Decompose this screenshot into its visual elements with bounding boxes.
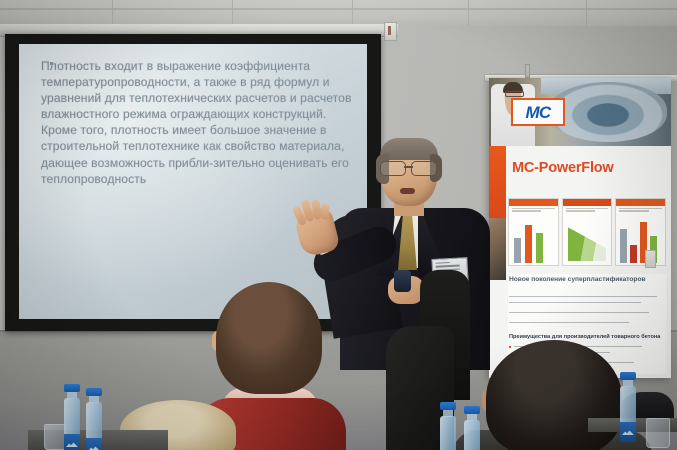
bottle-cap: [464, 406, 480, 414]
banner-hook: [525, 64, 530, 78]
banner-headline: Новое поколение суперпластификаторов: [509, 276, 659, 284]
wall-light-switch[interactable]: [645, 250, 656, 268]
bottle-label: [620, 422, 636, 442]
slide-content: Плотность входит в выражение коэффициент…: [41, 58, 355, 187]
bottle-label: [64, 434, 80, 450]
ceiling: [0, 0, 677, 26]
bottle-cap: [86, 388, 102, 396]
bottle-body: [440, 416, 456, 450]
bottle-cap: [64, 384, 80, 392]
projection-screen-surface: Плотность входит в выражение коэффициент…: [19, 44, 367, 319]
bottle-cap: [620, 372, 636, 380]
presenter-mouth: [400, 188, 415, 194]
slide-bullet-icon: [50, 62, 53, 65]
ceiling-tile-grid: [0, 0, 677, 26]
banner-subheadline: Преимущества для производителей товарног…: [509, 334, 660, 340]
bottle-body: [64, 398, 80, 446]
banner-bar-chart: [512, 215, 555, 263]
conference-photo-scene: Плотность входит в выражение коэффициент…: [0, 0, 677, 450]
bottle-body: [86, 402, 102, 450]
stadium-photo: [549, 82, 667, 142]
bottle-cap: [440, 402, 456, 410]
audience-dark-haired-man: [486, 340, 622, 450]
bottle-body: [464, 420, 480, 450]
lab-technician-glasses-icon: [505, 91, 524, 97]
mc-logo-text: MC: [525, 104, 550, 121]
banner-card-header: [563, 199, 612, 206]
mc-logo: MC: [511, 98, 565, 126]
drinking-glass: [646, 418, 670, 448]
banner-chart-card: [562, 198, 613, 266]
bottle-label: [86, 438, 102, 450]
banner-chart-panels: [508, 198, 666, 266]
banner-line-chart: [566, 215, 609, 263]
drinking-glass: [44, 424, 66, 450]
glasses-icon: [378, 161, 440, 174]
presentation-clicker[interactable]: [394, 270, 411, 292]
screen-roller-end-cap: [384, 22, 397, 41]
banner-card-header: [616, 199, 665, 206]
banner-chart-card: [615, 198, 666, 266]
slide-paragraph: Плотность входит в выражение коэффициент…: [41, 58, 355, 187]
audience-woman-hair: [216, 282, 322, 394]
bottle-body: [620, 386, 636, 434]
banner-product-title: MC-PowerFlow: [512, 160, 614, 176]
